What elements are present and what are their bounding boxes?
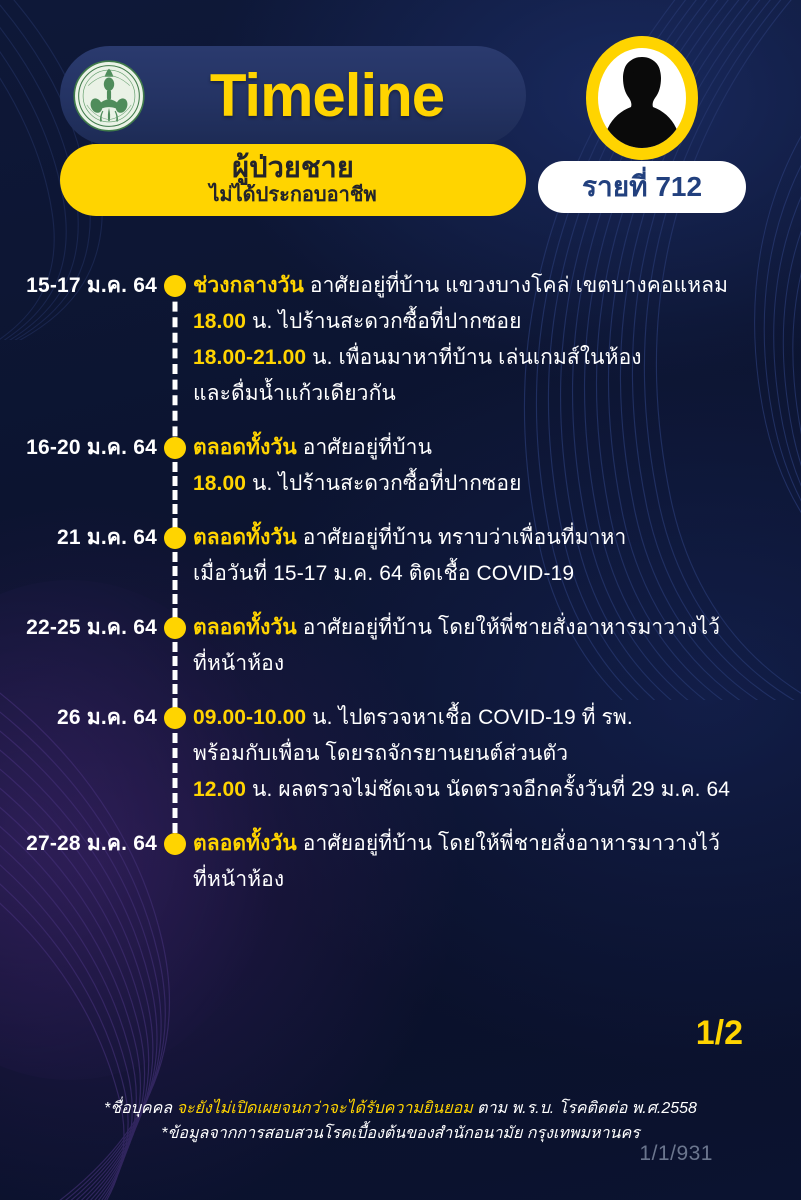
avatar-inner xyxy=(598,48,686,148)
timeline-dot-icon xyxy=(164,707,186,729)
timeline-entry-line-highlight: 18.00 xyxy=(193,310,246,333)
timeline-entry-line-highlight: ตลอดทั้งวัน xyxy=(193,832,297,855)
timeline-connector-line xyxy=(173,286,178,452)
infographic-page: Timeline ผู้ป่วยชาย ไม่ได้ประกอบอาชีพ รา… xyxy=(0,0,801,1200)
timeline-dot-icon xyxy=(164,833,186,855)
timeline-entry-line: ตลอดทั้งวัน อาศัยอยู่ที่บ้าน xyxy=(193,430,791,466)
timeline-entry: 26 ม.ค. 6409.00-10.00 น. ไปตรวจหาเชื้อ C… xyxy=(0,700,801,826)
timeline-entry-body: ตลอดทั้งวัน อาศัยอยู่ที่บ้าน โดยให้พี่ชา… xyxy=(193,610,801,700)
timeline-entry-line-highlight: 09.00-10.00 xyxy=(193,706,306,729)
timeline-entry-body: 09.00-10.00 น. ไปตรวจหาเชื้อ COVID-19 ที… xyxy=(193,700,801,826)
page-indicator: 1/2 xyxy=(696,1014,743,1053)
person-silhouette-icon xyxy=(598,48,686,148)
timeline-entry-line-text: น. เพื่อนมาหาที่บ้าน เล่นเกมส์ในห้อง xyxy=(306,346,641,369)
timeline-entry-line-text: และดื่มน้ำแก้วเดียวกัน xyxy=(193,382,396,405)
timeline-entry-line-highlight: 18.00 xyxy=(193,472,246,495)
timeline-entry-line: 18.00 น. ไปร้านสะดวกซื้อที่ปากซอย xyxy=(193,304,791,340)
timeline-entry-line: ตลอดทั้งวัน อาศัยอยู่ที่บ้าน ทราบว่าเพื่… xyxy=(193,520,791,556)
timeline-marker xyxy=(157,610,193,700)
timeline-entry-line: เมื่อวันที่ 15-17 ม.ค. 64 ติดเชื้อ COVID… xyxy=(193,556,791,592)
timeline-entry-line-text: อาศัยอยู่ที่บ้าน โดยให้พี่ชายสั่งอาหารมา… xyxy=(297,616,720,639)
timeline-entry-date: 26 ม.ค. 64 xyxy=(0,700,157,736)
timeline-entry: 16-20 ม.ค. 64ตลอดทั้งวัน อาศัยอยู่ที่บ้า… xyxy=(0,430,801,520)
timeline-dot-icon xyxy=(164,437,186,459)
timeline-entry-line: และดื่มน้ำแก้วเดียวกัน xyxy=(193,376,791,412)
timeline-marker xyxy=(157,700,193,826)
timeline-entry-line-text: น. ไปตรวจหาเชื้อ COVID-19 ที่ รพ. xyxy=(306,706,633,729)
timeline-entry-body: ตลอดทั้งวัน อาศัยอยู่ที่บ้าน18.00 น. ไปร… xyxy=(193,430,801,520)
bangkok-metropolitan-administration-seal-icon xyxy=(72,59,146,133)
subtitle-band: ผู้ป่วยชาย ไม่ได้ประกอบอาชีพ xyxy=(60,144,526,216)
timeline-entry: 22-25 ม.ค. 64ตลอดทั้งวัน อาศัยอยู่ที่บ้า… xyxy=(0,610,801,700)
timeline-entry-line-text: น. ไปร้านสะดวกซื้อที่ปากซอย xyxy=(246,472,521,495)
timeline-marker xyxy=(157,826,193,916)
page-title: Timeline xyxy=(146,66,526,126)
timeline-entry-line-highlight: ช่วงกลางวัน xyxy=(193,274,304,297)
timeline-entry-line: 18.00-21.00 น. เพื่อนมาหาที่บ้าน เล่นเกม… xyxy=(193,340,791,376)
timeline-entry-line: ช่วงกลางวัน อาศัยอยู่ที่บ้าน แขวงบางโคล่… xyxy=(193,268,791,304)
header: Timeline ผู้ป่วยชาย ไม่ได้ประกอบอาชีพ รา… xyxy=(0,0,801,232)
timeline-entry-line: พร้อมกับเพื่อน โดยรถจักรยานยนต์ส่วนตัว xyxy=(193,736,791,772)
timeline-entry: 27-28 ม.ค. 64ตลอดทั้งวัน อาศัยอยู่ที่บ้า… xyxy=(0,826,801,916)
timeline-entry-line-text: เมื่อวันที่ 15-17 ม.ค. 64 ติดเชื้อ COVID… xyxy=(193,562,574,585)
timeline-entry-line: ตลอดทั้งวัน อาศัยอยู่ที่บ้าน โดยให้พี่ชา… xyxy=(193,610,791,646)
timeline-entry: 21 ม.ค. 64ตลอดทั้งวัน อาศัยอยู่ที่บ้าน ท… xyxy=(0,520,801,610)
avatar xyxy=(586,36,698,160)
timeline-entry-line-text: อาศัยอยู่ที่บ้าน xyxy=(297,436,432,459)
timeline-entry-date: 22-25 ม.ค. 64 xyxy=(0,610,157,646)
timeline-entry-line-text: อาศัยอยู่ที่บ้าน แขวงบางโคล่ เขตบางคอแหล… xyxy=(304,274,728,297)
avatar-ring xyxy=(586,36,698,160)
patient-occupation-label: ไม่ได้ประกอบอาชีพ xyxy=(209,184,376,207)
timeline-entry-line-text: อาศัยอยู่ที่บ้าน ทราบว่าเพื่อนที่มาหา xyxy=(297,526,627,549)
timeline-entry-line-text: ที่หน้าห้อง xyxy=(193,652,284,675)
timeline-list: 15-17 ม.ค. 64ช่วงกลางวัน อาศัยอยู่ที่บ้า… xyxy=(0,268,801,916)
timeline-entry-line-text: พร้อมกับเพื่อน โดยรถจักรยานยนต์ส่วนตัว xyxy=(193,742,568,765)
timeline-connector-line xyxy=(173,718,178,848)
timeline-entry-body: ตลอดทั้งวัน อาศัยอยู่ที่บ้าน โดยให้พี่ชา… xyxy=(193,826,801,916)
timeline-entry-line: 09.00-10.00 น. ไปตรวจหาเชื้อ COVID-19 ที… xyxy=(193,700,791,736)
timeline-entry: 15-17 ม.ค. 64ช่วงกลางวัน อาศัยอยู่ที่บ้า… xyxy=(0,268,801,430)
timeline-entry-body: ตลอดทั้งวัน อาศัยอยู่ที่บ้าน ทราบว่าเพื่… xyxy=(193,520,801,610)
disclaimer-line-1-highlight: จะยังไม่เปิดเผยจนกว่าจะได้รับความยินยอม xyxy=(177,1100,473,1117)
timeline-entry-line-highlight: ตลอดทั้งวัน xyxy=(193,616,297,639)
timeline-entry-date: 27-28 ม.ค. 64 xyxy=(0,826,157,862)
timeline-entry-line: 18.00 น. ไปร้านสะดวกซื้อที่ปากซอย xyxy=(193,466,791,502)
timeline-entry-line: ที่หน้าห้อง xyxy=(193,862,791,898)
timeline-entry-line: ตลอดทั้งวัน อาศัยอยู่ที่บ้าน โดยให้พี่ชา… xyxy=(193,826,791,862)
timeline-entry-line-highlight: ตลอดทั้งวัน xyxy=(193,526,297,549)
timeline-entry-line: 12.00 น. ผลตรวจไม่ชัดเจน นัดตรวจอีกครั้ง… xyxy=(193,772,791,808)
disclaimer-line-1-post: ตาม พ.ร.บ. โรคติดต่อ พ.ศ.2558 xyxy=(473,1100,697,1117)
watermark: 1/1/931 xyxy=(639,1142,713,1166)
disclaimer: *ชื่อบุคคล จะยังไม่เปิดเผยจนกว่าจะได้รับ… xyxy=(0,1096,801,1146)
timeline-entry-line-highlight: 18.00-21.00 xyxy=(193,346,306,369)
disclaimer-line-1: *ชื่อบุคคล จะยังไม่เปิดเผยจนกว่าจะได้รับ… xyxy=(0,1096,801,1121)
timeline-dot-icon xyxy=(164,617,186,639)
patient-type-label: ผู้ป่วยชาย xyxy=(232,153,354,183)
timeline-entry-line-highlight: ตลอดทั้งวัน xyxy=(193,436,297,459)
timeline-dot-icon xyxy=(164,527,186,549)
timeline-entry-body: ช่วงกลางวัน อาศัยอยู่ที่บ้าน แขวงบางโคล่… xyxy=(193,268,801,430)
timeline-entry-line-text: อาศัยอยู่ที่บ้าน โดยให้พี่ชายสั่งอาหารมา… xyxy=(297,832,720,855)
timeline-entry-line: ที่หน้าห้อง xyxy=(193,646,791,682)
disclaimer-line-1-pre: *ชื่อบุคคล xyxy=(104,1100,177,1117)
timeline-entry-date: 15-17 ม.ค. 64 xyxy=(0,268,157,304)
timeline-entry-date: 21 ม.ค. 64 xyxy=(0,520,157,556)
title-panel: Timeline xyxy=(60,46,526,145)
case-number-badge: รายที่ 712 xyxy=(538,161,746,213)
timeline-entry-line-text: น. ผลตรวจไม่ชัดเจน นัดตรวจอีกครั้งวันที่… xyxy=(246,778,730,801)
timeline-entry-line-highlight: 12.00 xyxy=(193,778,246,801)
timeline-dot-icon xyxy=(164,275,186,297)
timeline-marker xyxy=(157,430,193,520)
timeline-marker xyxy=(157,268,193,430)
timeline-entry-line-text: ที่หน้าห้อง xyxy=(193,868,284,891)
timeline-entry-date: 16-20 ม.ค. 64 xyxy=(0,430,157,466)
timeline-entry-line-text: น. ไปร้านสะดวกซื้อที่ปากซอย xyxy=(246,310,521,333)
timeline-marker xyxy=(157,520,193,610)
